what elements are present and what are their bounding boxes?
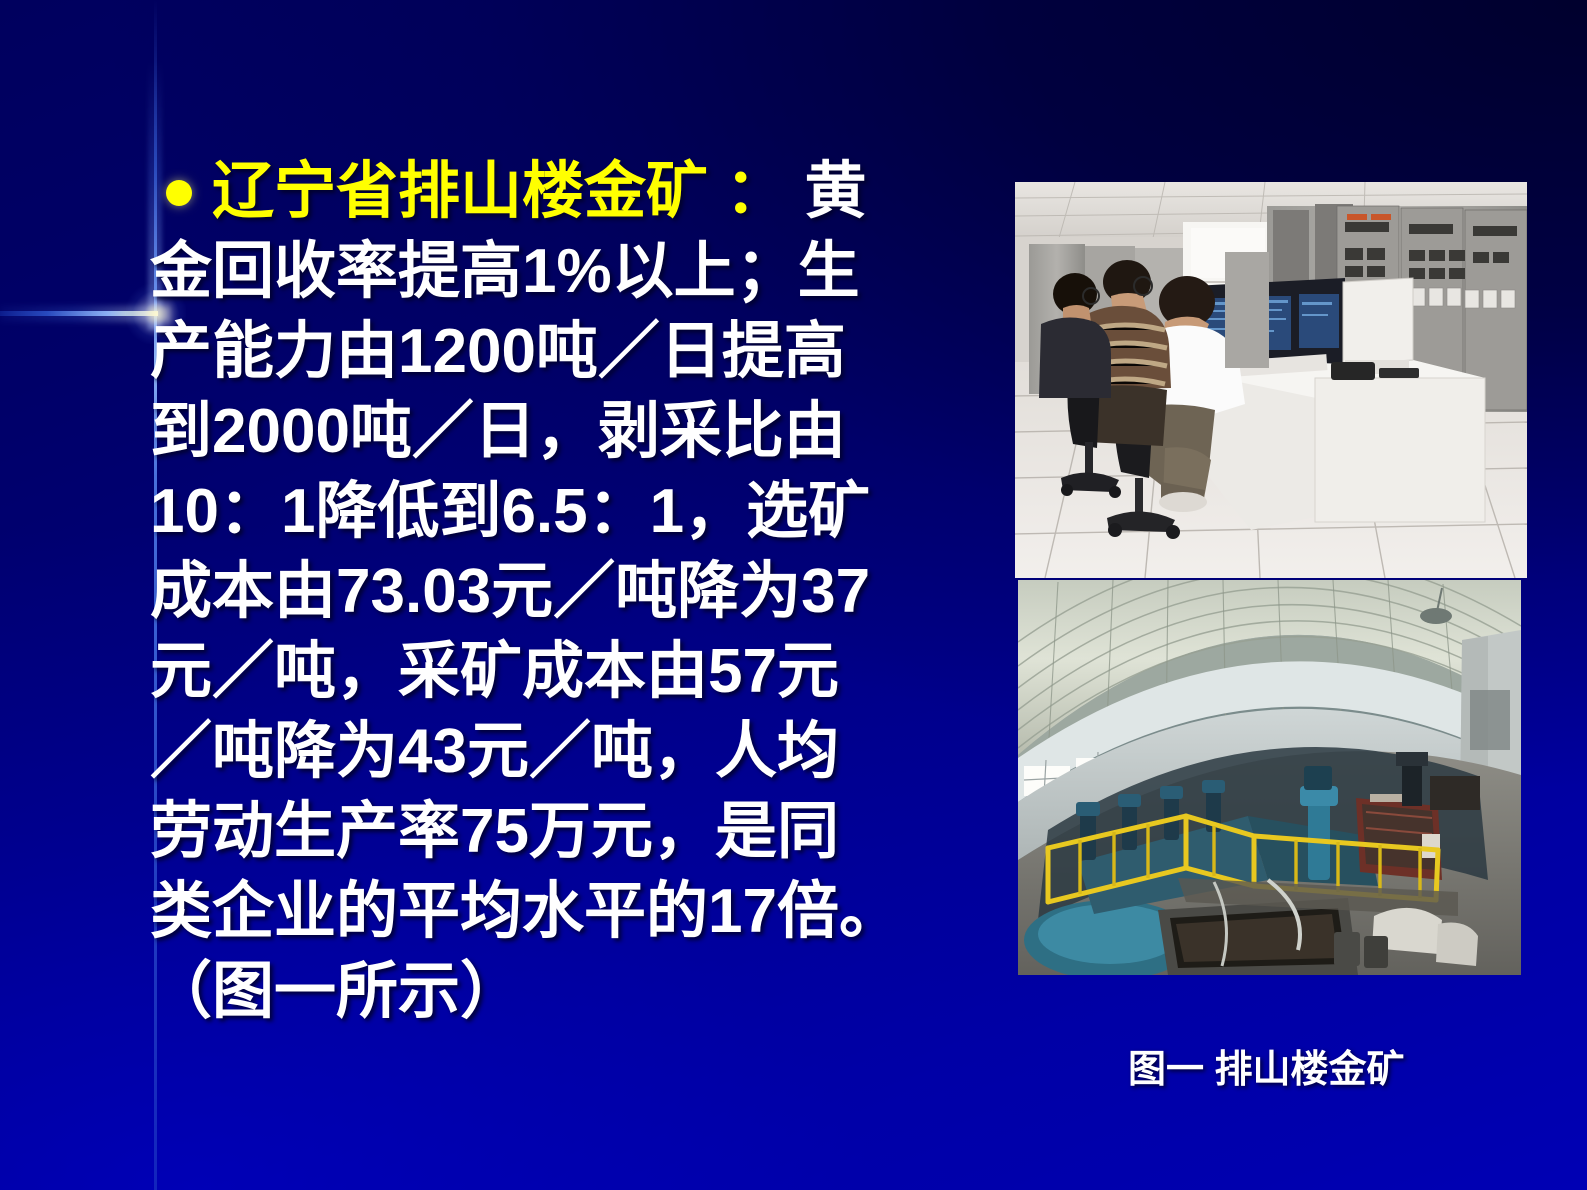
body-line-text: 金回收率提高1%以上；生	[150, 237, 860, 306]
body-text-block: 辽宁省排山楼金矿 ： 黄 金回收率提高1%以上；生 产能力由1200吨／日提高 …	[150, 152, 980, 1032]
bullet-point-icon	[166, 180, 192, 206]
body-line: 金回收率提高1%以上；生	[150, 232, 980, 312]
body-line: 到2000吨／日，剥采比由	[150, 392, 980, 472]
body-line: （图一所示）	[150, 952, 980, 1032]
body-line-text: 类企业的平均水平的17倍。	[150, 877, 901, 946]
slide-canvas: 辽宁省排山楼金矿 ： 黄 金回收率提高1%以上；生 产能力由1200吨／日提高 …	[0, 0, 1587, 1190]
body-line: 10：1降低到6.5：1，选矿	[150, 472, 980, 552]
control-room-photo	[1015, 182, 1527, 578]
body-line-text: ／吨降为43元／吨，人均	[150, 717, 839, 786]
body-line: 成本由73.03元／吨降为37	[150, 552, 980, 632]
body-line-text: 到2000吨／日，剥采比由	[150, 397, 846, 466]
body-line-text: 成本由73.03元／吨降为37	[150, 557, 870, 626]
body-line: ／吨降为43元／吨，人均	[150, 712, 980, 792]
body-line-text: 劳动生产率75万元，是同	[150, 797, 839, 866]
body-line: 劳动生产率75万元，是同	[150, 792, 980, 872]
body-line-text: （图一所示）	[150, 957, 522, 1026]
body-line-text: 产能力由1200吨／日提高	[150, 317, 846, 386]
body-line: 产能力由1200吨／日提高	[150, 312, 980, 392]
figure-caption: 图一 排山楼金矿	[1128, 1038, 1405, 1093]
mine-name-highlight: 辽宁省排山楼金矿 ：	[212, 157, 787, 226]
body-line: 类企业的平均水平的17倍。	[150, 872, 980, 952]
body-line-text: 黄	[787, 157, 866, 226]
body-line-text: 10：1降低到6.5：1，选矿	[150, 477, 870, 546]
body-line: 辽宁省排山楼金矿 ： 黄	[150, 152, 980, 232]
flotation-plant-photo	[1018, 580, 1521, 975]
body-line-text: 元／吨，采矿成本由57元	[150, 637, 839, 706]
body-line: 元／吨，采矿成本由57元	[150, 632, 980, 712]
